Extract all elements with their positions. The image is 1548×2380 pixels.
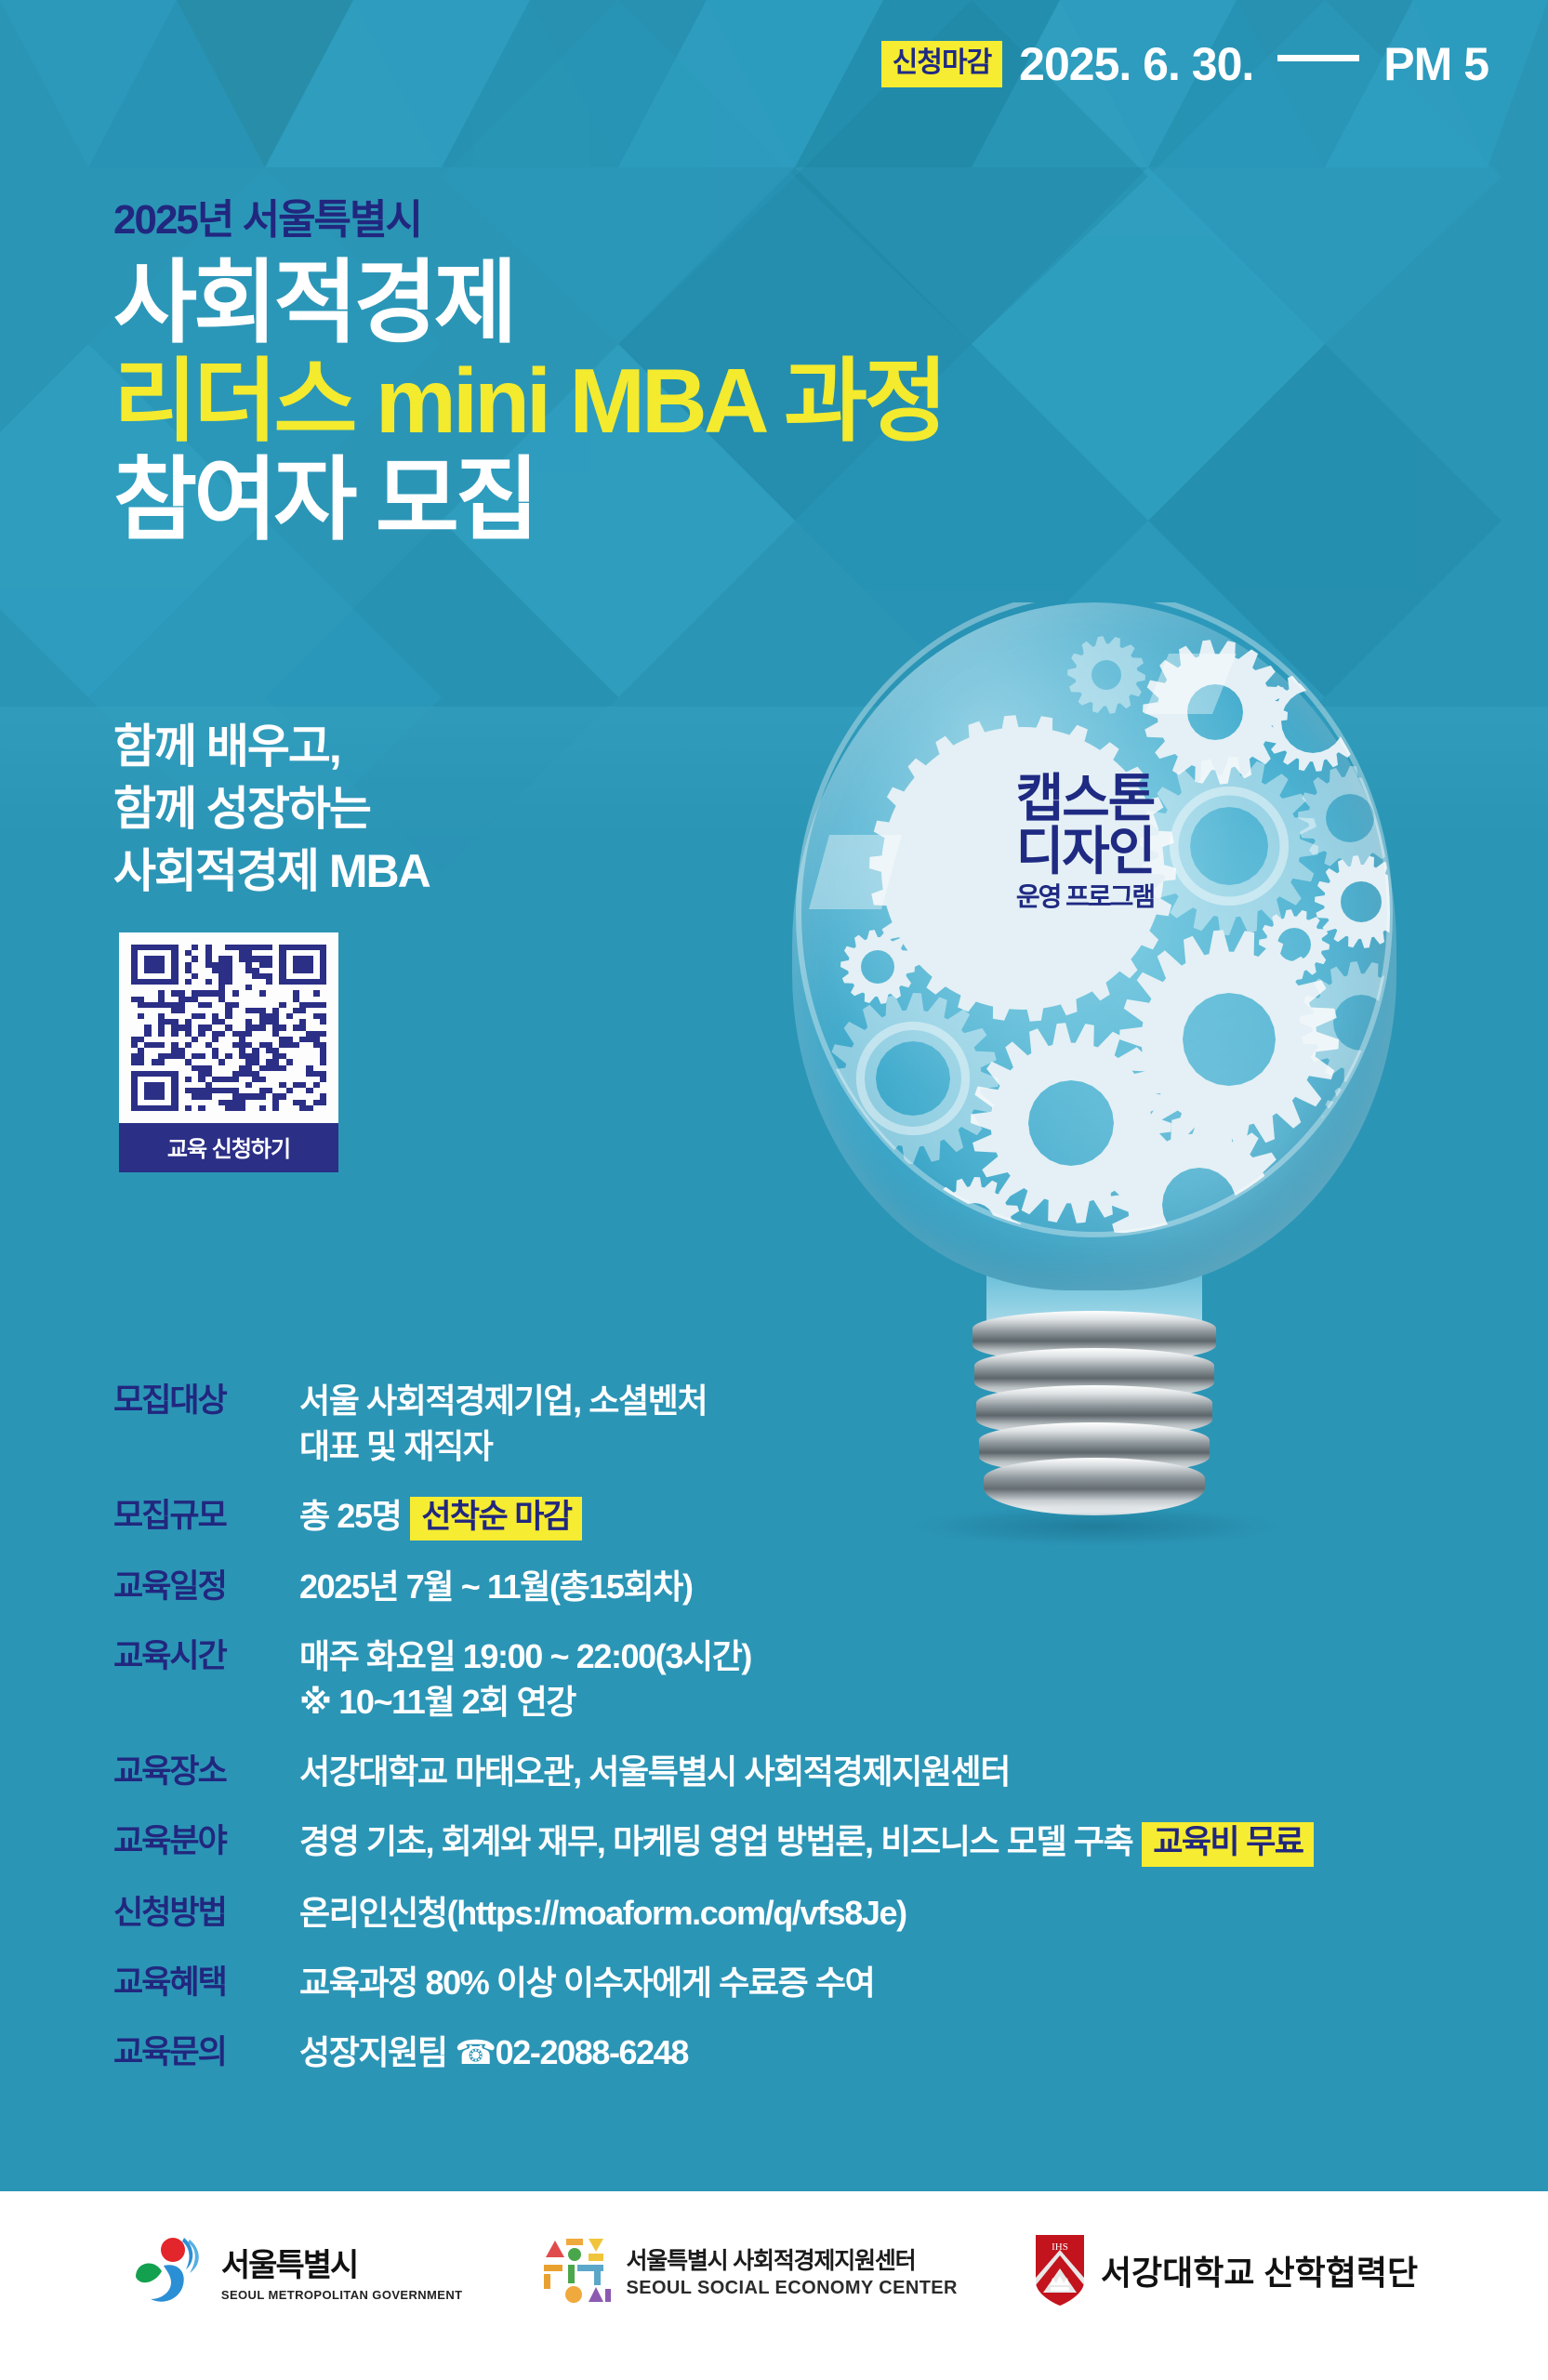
smg-symbol-icon (130, 2234, 210, 2307)
poster-root: 신청마감 2025. 6. 30. PM 5 2025년 서울특별시 사회적경제… (0, 0, 1548, 2380)
footer-logos: 서울특별시 SEOUL METROPOLITAN GOVERNMENT (0, 2231, 1548, 2309)
smg-name-en: SEOUL METROPOLITAN GOVERNMENT (221, 2288, 463, 2302)
seoul-metropolitan-government-logo: 서울특별시 SEOUL METROPOLITAN GOVERNMENT (130, 2234, 463, 2307)
sogang-university-crest-logo: IHS 서강대학교 산학협력단 (1030, 2231, 1418, 2309)
seoul-social-economy-center-logo: 서울특별시 사회적경제지원센터 SEOUL SOCIAL ECONOMY CEN… (535, 2233, 957, 2307)
ssec-name-ko: 서울특별시 사회적경제지원센터 (626, 2242, 957, 2276)
sogang-crest-icon: IHS (1030, 2231, 1090, 2309)
ssec-symbol-icon (535, 2233, 615, 2307)
footer: 서울특별시 SEOUL METROPOLITAN GOVERNMENT (0, 0, 1548, 2380)
smg-name-ko: 서울특별시 (221, 2240, 463, 2285)
ssec-name-en: SEOUL SOCIAL ECONOMY CENTER (626, 2278, 957, 2299)
sogang-name-ko: 서강대학교 산학협력단 (1101, 2246, 1418, 2294)
